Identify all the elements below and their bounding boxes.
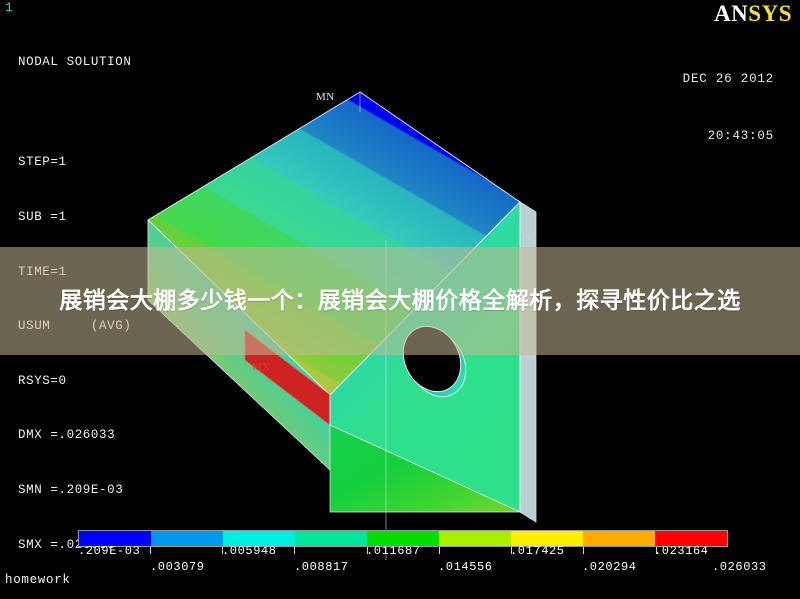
legend-label-9: .023164 — [654, 545, 709, 558]
legend-swatch-4 — [295, 531, 367, 546]
max-marker-label: MX — [252, 362, 271, 373]
header-dmx: DMX =.026033 — [18, 426, 131, 444]
legend-label-max: .026033 — [712, 561, 767, 574]
header-rsys: RSYS=0 — [18, 372, 131, 390]
header-title: NODAL SOLUTION — [18, 53, 131, 71]
legend-label-2: .003079 — [150, 561, 205, 574]
ansys-graphics-window: 1 NODAL SOLUTION STEP=1 SUB =1 TIME=1 US… — [0, 0, 800, 599]
jobname-label: homework — [5, 573, 71, 587]
timestamp: DEC 26 2012 20:43:05 — [683, 32, 774, 184]
legend-label-5: .011687 — [366, 545, 421, 558]
overlay-banner: 展销会大棚多少钱一个：展销会大棚价格全解析，探寻性价比之选 — [0, 247, 800, 355]
legend-labels: .209E-03 .003079 .005948 .008817 .011687… — [0, 0, 800, 50]
legend-swatch-8 — [583, 531, 655, 546]
header-step: STEP=1 — [18, 153, 131, 171]
timestamp-time: 20:43:05 — [683, 127, 774, 146]
legend-label-3: .005948 — [222, 545, 277, 558]
min-marker-label: MN — [316, 92, 335, 103]
legend-label-8: .020294 — [582, 561, 637, 574]
legend-label-7: .017425 — [510, 545, 565, 558]
legend-label-6: .014556 — [438, 561, 493, 574]
overlay-banner-text: 展销会大棚多少钱一个：展销会大棚价格全解析，探寻性价比之选 — [59, 282, 741, 320]
header-smn: SMN =.209E-03 — [18, 481, 131, 499]
timestamp-date: DEC 26 2012 — [683, 70, 774, 89]
legend-swatch-2 — [151, 531, 223, 546]
legend-label-4: .008817 — [294, 561, 349, 574]
legend-label-min: .209E-03 — [78, 545, 140, 558]
header-spacer — [18, 108, 131, 117]
legend-swatch-6 — [439, 531, 511, 546]
header-sub: SUB =1 — [18, 208, 131, 226]
